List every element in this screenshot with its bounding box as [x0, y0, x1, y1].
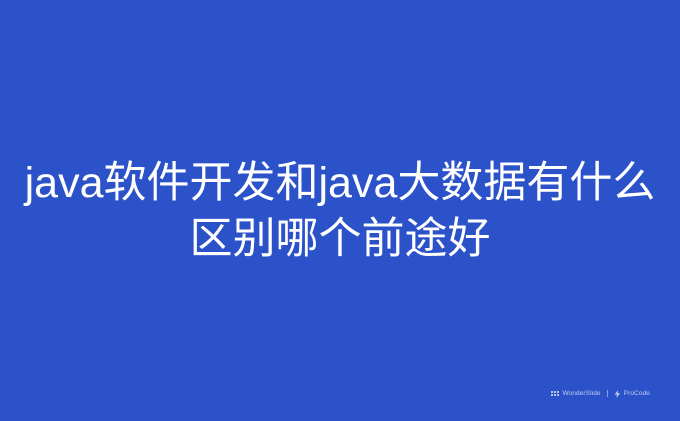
headline-block: java软件开发和java大数据有什么区别哪个前途好 [0, 0, 680, 421]
page-title: java软件开发和java大数据有什么区别哪个前途好 [4, 155, 676, 267]
slide-canvas: java软件开发和java大数据有什么区别哪个前途好 WonderSlide P… [0, 0, 680, 421]
